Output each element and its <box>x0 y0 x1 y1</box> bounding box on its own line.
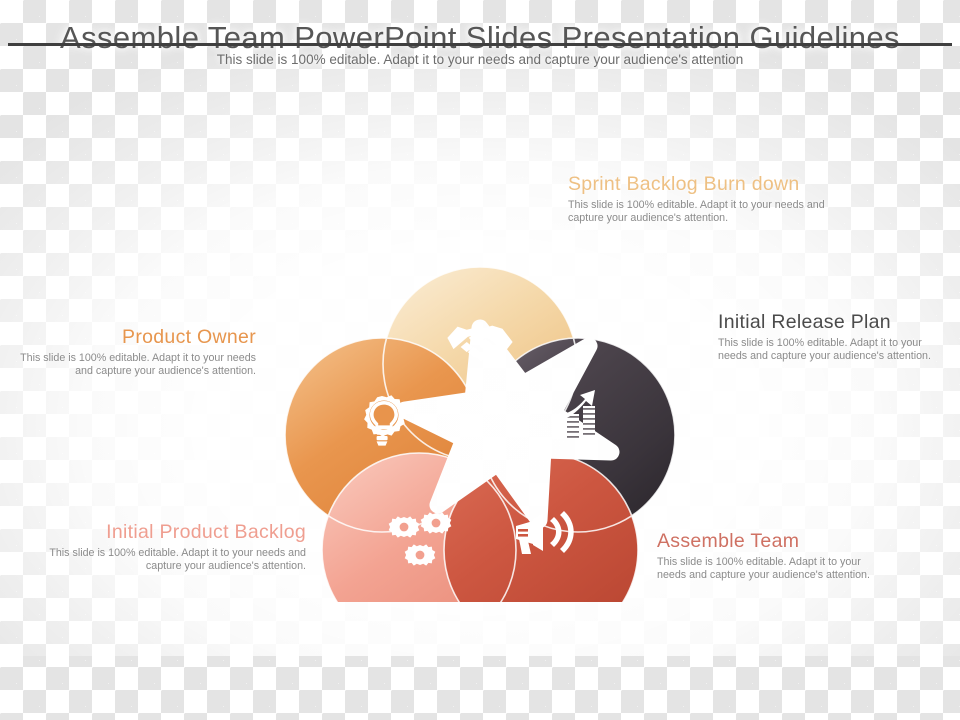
label-body-initial-product-backlog: This slide is 100% editable. Adapt it to… <box>26 547 306 574</box>
label-body-initial-release-plan: This slide is 100% editable. Adapt it to… <box>718 337 950 364</box>
label-title-product-owner: Product Owner <box>18 325 256 349</box>
label-initial-product-backlog[interactable]: Initial Product Backlog This slide is 10… <box>26 520 306 574</box>
label-body-assemble-team: This slide is 100% editable. Adapt it to… <box>657 556 885 583</box>
label-initial-release-plan[interactable]: Initial Release Plan This slide is 100% … <box>718 310 950 364</box>
label-body-product-owner: This slide is 100% editable. Adapt it to… <box>18 352 256 379</box>
label-assemble-team[interactable]: Assemble Team This slide is 100% editabl… <box>657 529 885 583</box>
slide-subtitle: This slide is 100% editable. Adapt it to… <box>0 52 960 67</box>
label-title-assemble-team: Assemble Team <box>657 529 885 553</box>
label-body-sprint-backlog-burn-down: This slide is 100% editable. Adapt it to… <box>568 199 828 226</box>
label-title-sprint-backlog-burn-down: Sprint Backlog Burn down <box>568 172 828 196</box>
slide-canvas: Assemble Team PowerPoint Slides Presenta… <box>0 0 960 720</box>
label-product-owner[interactable]: Product Owner This slide is 100% editabl… <box>18 325 256 379</box>
label-sprint-backlog-burn-down[interactable]: Sprint Backlog Burn down This slide is 1… <box>568 172 828 226</box>
label-title-initial-release-plan: Initial Release Plan <box>718 310 950 334</box>
petal-assemble-team[interactable] <box>444 453 638 647</box>
label-title-initial-product-backlog: Initial Product Backlog <box>26 520 306 544</box>
title-divider <box>8 43 952 46</box>
